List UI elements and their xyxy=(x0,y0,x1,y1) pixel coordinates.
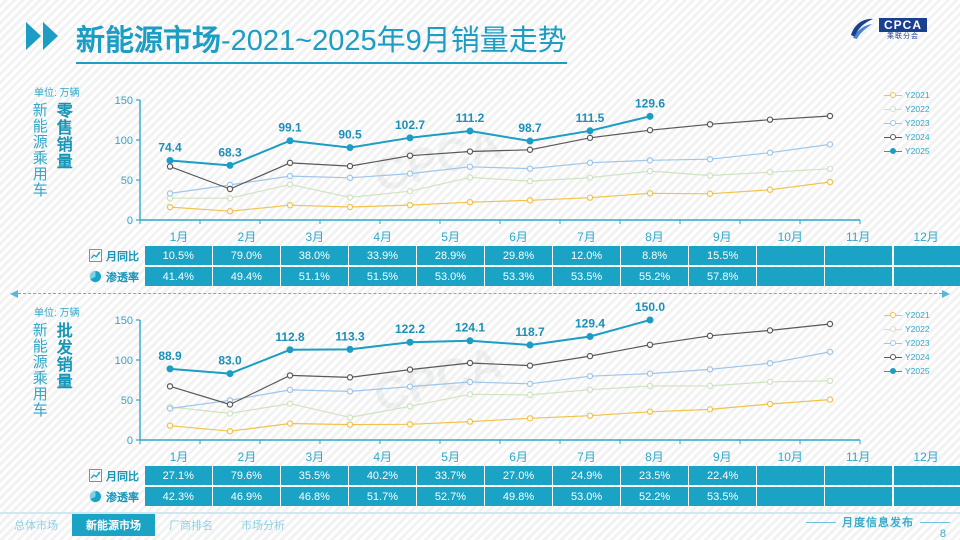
legend-label: Y2024 xyxy=(905,132,930,142)
month-label-11: 11月 xyxy=(824,448,892,466)
table-cell: 46.8% xyxy=(281,487,348,506)
month-label-1: 1月 xyxy=(145,228,213,246)
table-row: 月同比10.5%79.0%38.0%33.9%28.9%29.8%12.0%8.… xyxy=(0,246,960,265)
svg-text:50: 50 xyxy=(121,175,133,187)
svg-text:100: 100 xyxy=(115,355,133,367)
legend-retail: Y2021Y2022Y2023Y2024Y2025 xyxy=(884,88,956,158)
legend-swatch-icon xyxy=(884,137,902,138)
chart-retail-svg: CPCA05010015074.468.399.190.5102.7111.29… xyxy=(100,78,880,238)
row-label-text: 月同比 xyxy=(106,468,139,484)
month-label-8: 8月 xyxy=(620,448,688,466)
row-label: 月同比 xyxy=(0,246,145,265)
table-cell: 49.4% xyxy=(213,267,280,286)
tab-overall-market[interactable]: 总体市场 xyxy=(0,514,72,536)
table-cell: 53.3% xyxy=(485,267,552,286)
table-cell: 51.7% xyxy=(349,487,416,506)
svg-text:124.1: 124.1 xyxy=(455,321,485,335)
svg-text:98.7: 98.7 xyxy=(518,121,542,135)
svg-text:50: 50 xyxy=(121,395,133,407)
legend-swatch-icon xyxy=(884,151,902,152)
svg-text:0: 0 xyxy=(127,435,133,447)
table-cell: 57.8% xyxy=(689,267,756,286)
month-label-2: 2月 xyxy=(213,448,281,466)
page-title-sub: -2021~2025年9月销量走势 xyxy=(221,25,567,57)
svg-text:83.0: 83.0 xyxy=(218,354,242,368)
legend-item-y2025[interactable]: Y2025 xyxy=(884,144,956,158)
svg-text:88.9: 88.9 xyxy=(158,349,182,363)
table-cell xyxy=(757,466,824,485)
table-cell: 53.5% xyxy=(553,267,620,286)
month-label-1: 1月 xyxy=(145,448,213,466)
table-cell: 28.9% xyxy=(417,246,484,265)
table-cell: 33.7% xyxy=(417,466,484,485)
footer-brand-text: 月度信息发布 xyxy=(842,514,914,530)
logo-wordmark: CPCA xyxy=(879,18,927,32)
table-cell: 23.5% xyxy=(621,466,688,485)
svg-text:102.7: 102.7 xyxy=(395,118,425,132)
row-label: 渗透率 xyxy=(0,267,145,286)
month-label-11: 11月 xyxy=(824,228,892,246)
legend-label: Y2021 xyxy=(905,90,930,100)
month-label-8: 8月 xyxy=(620,228,688,246)
svg-text:129.4: 129.4 xyxy=(575,316,605,330)
table-cell: 24.9% xyxy=(553,466,620,485)
table-row: 渗透率42.3%46.9%46.8%51.7%52.7%49.8%53.0%52… xyxy=(0,487,960,506)
month-label-4: 4月 xyxy=(349,228,417,246)
legend-label: Y2022 xyxy=(905,104,930,114)
table-cell: 53.0% xyxy=(553,487,620,506)
svg-text:118.7: 118.7 xyxy=(515,325,545,339)
month-label-10: 10月 xyxy=(756,228,824,246)
table-cell: 79.0% xyxy=(213,246,280,265)
table-cell: 53.5% xyxy=(689,487,756,506)
month-axis-retail: 1月2月3月4月5月6月7月8月9月10月11月12月 xyxy=(0,228,960,246)
svg-text:150: 150 xyxy=(115,315,133,327)
table-cell: 55.2% xyxy=(621,267,688,286)
table-cell: 22.4% xyxy=(689,466,756,485)
svg-text:0: 0 xyxy=(127,215,133,227)
table-cell xyxy=(825,246,892,265)
legend-item-y2023[interactable]: Y2023 xyxy=(884,116,956,130)
page-title: 新能源市场-2021~2025年9月销量走势 xyxy=(76,17,567,64)
table-cell: 35.5% xyxy=(281,466,348,485)
footer-tabs[interactable]: 总体市场新能源市场厂商排名市场分析 xyxy=(0,514,299,536)
svg-text:111.5: 111.5 xyxy=(576,111,605,125)
legend-swatch-icon xyxy=(884,315,902,316)
table-cell xyxy=(757,267,824,286)
legend-label: Y2025 xyxy=(905,366,930,376)
table-wholesale: 月同比27.1%79.6%35.5%40.2%33.7%27.0%24.9%23… xyxy=(0,466,960,508)
unit-label-retail: 单位: 万辆 xyxy=(34,84,80,99)
tab-oem-ranking[interactable]: 厂商排名 xyxy=(155,514,227,536)
legend-item-y2025[interactable]: Y2025 xyxy=(884,364,956,378)
divider-arrow-right-icon xyxy=(942,290,950,298)
vertical-labels-retail: 新能源乘用车 零售销量 xyxy=(30,102,71,198)
table-row: 渗透率41.4%49.4%51.1%51.5%53.0%53.3%53.5%55… xyxy=(0,267,960,286)
month-label-3: 3月 xyxy=(281,448,349,466)
month-label-3: 3月 xyxy=(281,228,349,246)
table-cell: 12.0% xyxy=(553,246,620,265)
month-label-5: 5月 xyxy=(417,448,485,466)
legend-item-y2022[interactable]: Y2022 xyxy=(884,322,956,336)
chart-wholesale-svg: CPCA05010015088.983.0112.8113.3122.2124.… xyxy=(100,298,880,458)
table-cell: 15.5% xyxy=(689,246,756,265)
svg-text:90.5: 90.5 xyxy=(338,128,362,142)
cpca-emblem-icon xyxy=(848,16,876,42)
month-label-12: 12月 xyxy=(892,448,960,466)
row-label: 渗透率 xyxy=(0,487,145,506)
table-cell: 49.8% xyxy=(485,487,552,506)
table-cell: 40.2% xyxy=(349,466,416,485)
legend-item-y2023[interactable]: Y2023 xyxy=(884,336,956,350)
panel-wholesale: 单位: 万辆 新能源乘用车 批发销量 CPCA05010015088.983.0… xyxy=(0,298,960,513)
month-label-4: 4月 xyxy=(349,448,417,466)
table-cell xyxy=(825,267,892,286)
panel-retail: 单位: 万辆 新能源乘用车 零售销量 CPCA05010015074.468.3… xyxy=(0,78,960,293)
month-label-5: 5月 xyxy=(417,228,485,246)
legend-wholesale: Y2021Y2022Y2023Y2024Y2025 xyxy=(884,308,956,378)
svg-text:113.3: 113.3 xyxy=(335,329,365,343)
table-cell: 33.9% xyxy=(349,246,416,265)
table-cell xyxy=(757,246,824,265)
legend-item-y2021[interactable]: Y2021 xyxy=(884,308,956,322)
svg-text:129.6: 129.6 xyxy=(635,96,665,110)
row-label: 月同比 xyxy=(0,466,145,485)
table-cell: 53.0% xyxy=(417,267,484,286)
table-cell xyxy=(894,466,960,485)
month-axis-wholesale: 1月2月3月4月5月6月7月8月9月10月11月12月 xyxy=(0,448,960,466)
table-cell: 27.0% xyxy=(485,466,552,485)
table-retail: 月同比10.5%79.0%38.0%33.9%28.9%29.8%12.0%8.… xyxy=(0,246,960,288)
legend-label: Y2023 xyxy=(905,338,930,348)
table-cell xyxy=(894,246,960,265)
pie-chart-icon xyxy=(89,490,102,503)
legend-label: Y2023 xyxy=(905,118,930,128)
table-cell xyxy=(894,487,960,506)
pie-chart-icon xyxy=(89,270,102,283)
table-cell xyxy=(757,487,824,506)
svg-text:CPCA: CPCA xyxy=(368,336,508,422)
table-cell: 79.6% xyxy=(213,466,280,485)
legend-label: Y2025 xyxy=(905,146,930,156)
legend-swatch-icon xyxy=(884,371,902,372)
table-cell: 29.8% xyxy=(485,246,552,265)
table-cell: 51.1% xyxy=(281,267,348,286)
chart-wholesale: CPCA05010015088.983.0112.8113.3122.2124.… xyxy=(100,298,880,458)
svg-text:150.0: 150.0 xyxy=(635,300,665,314)
table-cell: 38.0% xyxy=(281,246,348,265)
svg-text:122.2: 122.2 xyxy=(395,322,425,336)
legend-label: Y2022 xyxy=(905,324,930,334)
legend-swatch-icon xyxy=(884,123,902,124)
table-cell: 27.1% xyxy=(145,466,212,485)
legend-item-y2024[interactable]: Y2024 xyxy=(884,130,956,144)
row-label-text: 渗透率 xyxy=(106,489,139,505)
double-chevron-icon xyxy=(26,22,72,50)
unit-label-wholesale: 单位: 万辆 xyxy=(34,304,80,319)
svg-text:68.3: 68.3 xyxy=(218,145,242,159)
table-cell: 41.4% xyxy=(145,267,212,286)
vlabel-category-retail: 新能源乘用车 xyxy=(30,102,47,198)
logo-subtext: 乘联分会 xyxy=(879,32,927,41)
legend-item-y2021[interactable]: Y2021 xyxy=(884,88,956,102)
page-header: 新能源市场-2021~2025年9月销量走势 CPCA 乘联分会 xyxy=(0,0,960,70)
month-label-2: 2月 xyxy=(213,228,281,246)
month-label-6: 6月 xyxy=(485,228,553,246)
section-divider xyxy=(18,293,942,294)
legend-swatch-icon xyxy=(884,329,902,330)
vlabel-category-wholesale: 新能源乘用车 xyxy=(30,322,47,418)
page-number: 8 xyxy=(940,528,946,540)
cpca-logo: CPCA 乘联分会 xyxy=(848,14,944,44)
line-chart-icon xyxy=(89,249,102,262)
page-title-main: 新能源市场 xyxy=(76,25,221,57)
legend-swatch-icon xyxy=(884,343,902,344)
month-label-12: 12月 xyxy=(892,228,960,246)
row-label-text: 月同比 xyxy=(106,248,139,264)
table-cell: 52.2% xyxy=(621,487,688,506)
table-cell: 51.5% xyxy=(349,267,416,286)
table-cell: 42.3% xyxy=(145,487,212,506)
svg-text:150: 150 xyxy=(115,95,133,107)
row-label-text: 渗透率 xyxy=(106,269,139,285)
legend-item-y2024[interactable]: Y2024 xyxy=(884,350,956,364)
tab-nev-market[interactable]: 新能源市场 xyxy=(72,514,155,536)
page-footer: 总体市场新能源市场厂商排名市场分析 月度信息发布 8 xyxy=(0,512,960,540)
legend-swatch-icon xyxy=(884,357,902,358)
month-label-6: 6月 xyxy=(485,448,553,466)
month-label-7: 7月 xyxy=(553,448,621,466)
chart-retail: CPCA05010015074.468.399.190.5102.7111.29… xyxy=(100,78,880,238)
line-chart-icon xyxy=(89,469,102,482)
legend-label: Y2024 xyxy=(905,352,930,362)
svg-text:111.2: 111.2 xyxy=(456,111,485,125)
vlabel-metric-retail: 零售销量 xyxy=(53,102,71,198)
svg-text:112.8: 112.8 xyxy=(275,330,305,344)
table-cell xyxy=(825,487,892,506)
footer-brand: 月度信息发布 xyxy=(806,514,950,530)
table-cell xyxy=(894,267,960,286)
legend-item-y2022[interactable]: Y2022 xyxy=(884,102,956,116)
legend-swatch-icon xyxy=(884,95,902,96)
divider-arrow-left-icon xyxy=(10,290,18,298)
svg-text:74.4: 74.4 xyxy=(158,140,182,154)
month-label-10: 10月 xyxy=(756,448,824,466)
legend-label: Y2021 xyxy=(905,310,930,320)
month-label-7: 7月 xyxy=(553,228,621,246)
table-cell: 8.8% xyxy=(621,246,688,265)
vertical-labels-wholesale: 新能源乘用车 批发销量 xyxy=(30,322,71,418)
month-label-9: 9月 xyxy=(688,228,756,246)
table-cell: 52.7% xyxy=(417,487,484,506)
svg-text:100: 100 xyxy=(115,135,133,147)
svg-text:99.1: 99.1 xyxy=(278,121,302,135)
table-cell: 10.5% xyxy=(145,246,212,265)
table-cell: 46.9% xyxy=(213,487,280,506)
vlabel-metric-wholesale: 批发销量 xyxy=(53,322,71,418)
table-cell xyxy=(825,466,892,485)
month-label-9: 9月 xyxy=(688,448,756,466)
tab-market-analysis[interactable]: 市场分析 xyxy=(227,514,299,536)
legend-swatch-icon xyxy=(884,109,902,110)
table-row: 月同比27.1%79.6%35.5%40.2%33.7%27.0%24.9%23… xyxy=(0,466,960,485)
